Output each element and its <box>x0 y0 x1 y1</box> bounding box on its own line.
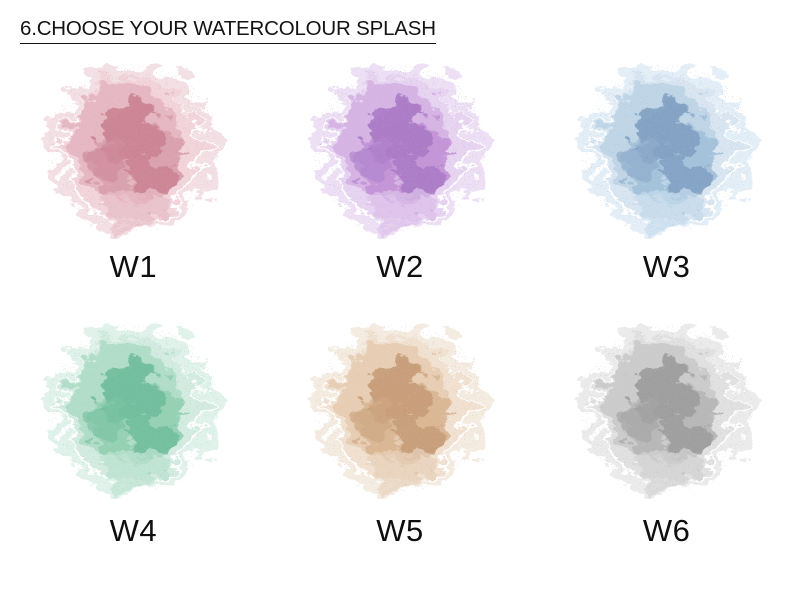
splash-graphic-icon <box>33 320 233 505</box>
watercolour-splash-w1[interactable] <box>33 60 233 245</box>
splash-graphic-icon <box>300 60 500 245</box>
swatch-label-w2: W2 <box>376 251 424 282</box>
watercolour-splash-w4[interactable] <box>33 320 233 505</box>
splash-graphic-icon <box>300 320 500 505</box>
swatch-option-w3[interactable]: W3 <box>533 58 800 318</box>
swatch-label-w4: W4 <box>110 515 158 546</box>
swatch-option-w4[interactable]: W4 <box>0 318 267 578</box>
splash-graphic-icon <box>567 320 767 505</box>
splash-graphic-icon <box>567 60 767 245</box>
watercolour-splash-w2[interactable] <box>300 60 500 245</box>
swatch-label-w5: W5 <box>376 515 424 546</box>
watercolour-swatch-grid: W1 <box>0 58 800 578</box>
swatch-label-w3: W3 <box>643 251 691 282</box>
splash-graphic-icon <box>33 60 233 245</box>
swatch-option-w6[interactable]: W6 <box>533 318 800 578</box>
watercolour-splash-w6[interactable] <box>567 320 767 505</box>
swatch-option-w2[interactable]: W2 <box>267 58 534 318</box>
swatch-option-w1[interactable]: W1 <box>0 58 267 318</box>
swatch-label-w1: W1 <box>110 251 158 282</box>
watercolour-splash-w3[interactable] <box>567 60 767 245</box>
swatch-option-w5[interactable]: W5 <box>267 318 534 578</box>
swatch-label-w6: W6 <box>643 515 691 546</box>
page-title: 6.CHOOSE YOUR WATERCOLOUR SPLASH <box>20 18 436 44</box>
watercolour-splash-w5[interactable] <box>300 320 500 505</box>
